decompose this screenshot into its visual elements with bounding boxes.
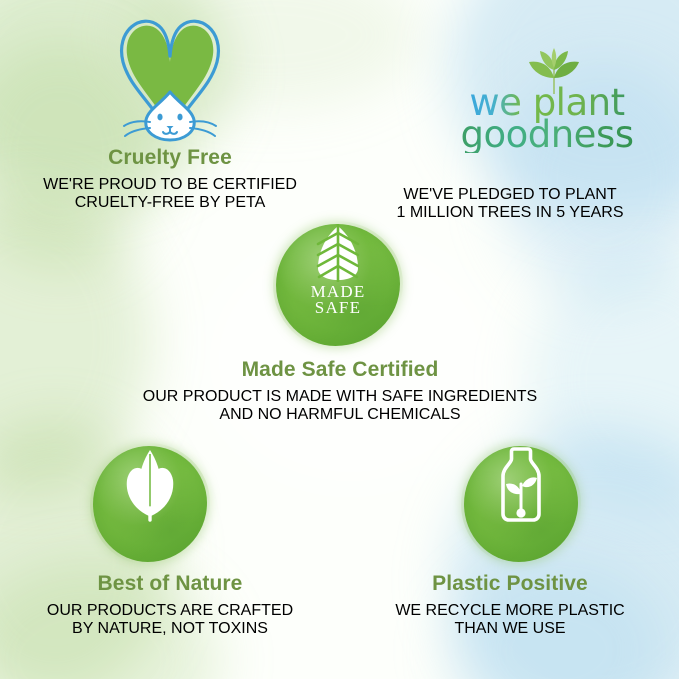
peta-bunny-heart-icon [108,12,232,144]
three-leaves-icon [115,446,185,522]
plastic-positive-title: Plastic Positive [360,572,660,596]
bottle-sprout-icon [492,446,550,524]
we-plant-goodness-logo: we plant goodness [447,48,647,153]
brand-badges-infographic: we plant goodness MADE SAFE [0,0,679,679]
made-safe-title: Made Safe Certified [110,358,570,382]
wash-left-green-1 [0,190,150,490]
plastic-positive-text-block: Plastic Positive WE RECYCLE MORE PLASTIC… [360,572,660,654]
we-plant-goodness-subtitle-line-1: WE'VE PLEDGED TO PLANT [350,186,670,204]
made-safe-label: MADE SAFE [311,284,366,317]
plastic-positive-badge [464,446,578,562]
best-of-nature-subtitle-line-2: BY NATURE, NOT TOXINS [20,620,320,638]
made-safe-line-2: SAFE [311,300,366,316]
made-safe-badge: MADE SAFE [276,224,400,346]
cruelty-free-text-block: Cruelty Free WE'RE PROUD TO BE CERTIFIED… [10,146,330,228]
best-of-nature-subtitle-line-1: OUR PRODUCTS ARE CRAFTED [20,602,320,620]
plastic-positive-badge-content [464,446,578,524]
made-safe-text-block: Made Safe Certified OUR PRODUCT IS MADE … [110,358,570,440]
plastic-positive-subtitle-line-2: THAN WE USE [360,620,660,638]
made-safe-badge-content: MADE SAFE [276,224,400,317]
we-plant-goodness-subtitle-line-2: 1 MILLION TREES IN 5 YEARS [350,204,670,222]
best-of-nature-badge-content [93,446,207,522]
made-safe-subtitle-line-2: AND NO HARMFUL CHEMICALS [110,406,570,424]
cruelty-free-subtitle-line-2: CRUELTY-FREE BY PETA [10,194,330,212]
cruelty-free-title: Cruelty Free [10,146,330,170]
cruelty-free-subtitle-line-1: WE'RE PROUD TO BE CERTIFIED [10,176,330,194]
made-safe-subtitle-line-1: OUR PRODUCT IS MADE WITH SAFE INGREDIENT… [110,388,570,406]
plastic-positive-subtitle-line-1: WE RECYCLE MORE PLASTIC [360,602,660,620]
leaf-chevron-icon [314,224,362,282]
best-of-nature-title: Best of Nature [20,572,320,596]
best-of-nature-badge [93,446,207,562]
best-of-nature-text-block: Best of Nature OUR PRODUCTS ARE CRAFTED … [20,572,320,654]
